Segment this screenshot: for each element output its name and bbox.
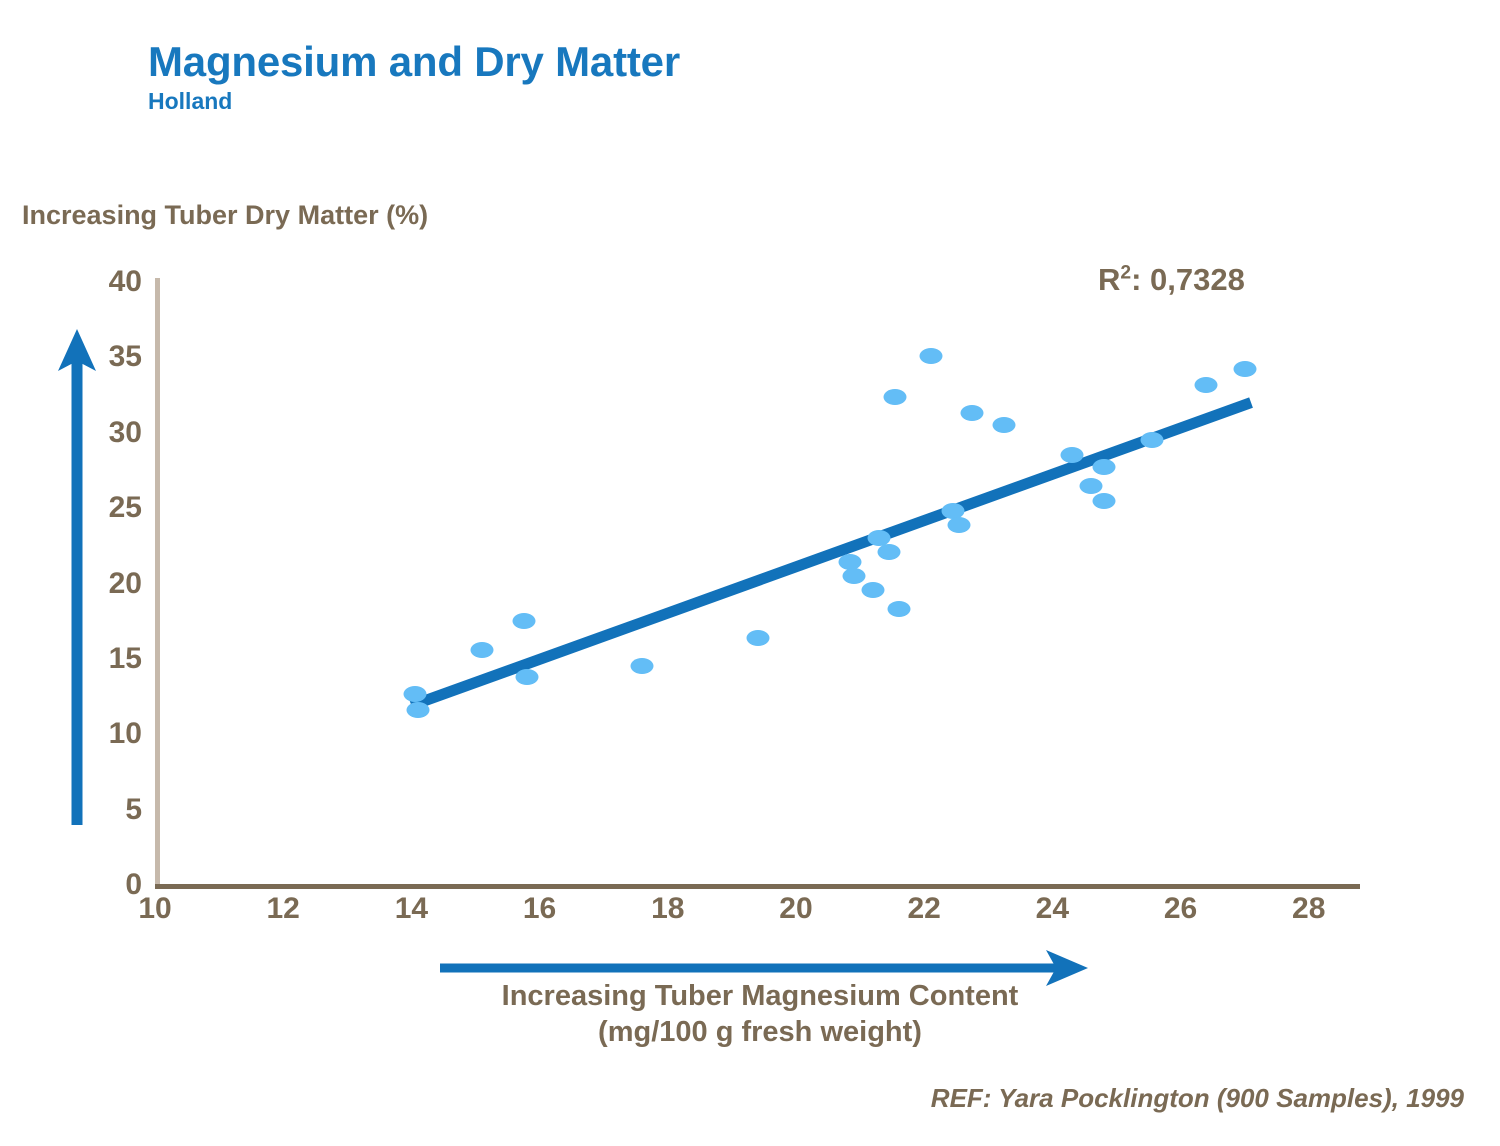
x-axis-tick-14: 14: [395, 892, 428, 926]
page-subtitle: Holland: [148, 88, 680, 115]
x-axis-tick-24: 24: [1036, 892, 1069, 926]
y-axis-tick-0: 0: [82, 868, 142, 902]
data-point: [1079, 478, 1102, 494]
x-axis-caption: Increasing Tuber Magnesium Content (mg/1…: [340, 978, 1180, 1051]
data-point: [861, 582, 884, 598]
x-axis-tick-12: 12: [267, 892, 300, 926]
x-axis-tick-18: 18: [651, 892, 684, 926]
data-point: [1140, 432, 1163, 448]
data-point: [1092, 493, 1115, 509]
data-point: [877, 544, 900, 560]
data-point: [919, 348, 942, 364]
y-axis-caption: Increasing Tuber Dry Matter (%): [22, 200, 428, 231]
x-axis-tick-10: 10: [138, 892, 171, 926]
y-axis-tick-40: 40: [82, 265, 142, 299]
data-point: [746, 630, 769, 646]
data-point: [961, 405, 984, 421]
page-title: Magnesium and Dry Matter: [148, 40, 680, 84]
plot-area: [155, 282, 1360, 885]
data-point: [842, 568, 865, 584]
data-point: [884, 389, 907, 405]
data-point: [406, 702, 429, 718]
x-axis-caption-line2: (mg/100 g fresh weight): [340, 1014, 1180, 1050]
data-point: [1233, 361, 1256, 377]
x-axis-caption-line1: Increasing Tuber Magnesium Content: [340, 978, 1180, 1014]
x-axis-tick-labels: 10121416182022242628: [155, 892, 1360, 936]
data-point: [470, 642, 493, 658]
data-point: [512, 613, 535, 629]
trend-line: [155, 282, 1360, 885]
y-direction-arrow-icon: [56, 325, 98, 825]
x-axis-tick-22: 22: [907, 892, 940, 926]
x-axis-tick-20: 20: [779, 892, 812, 926]
x-axis-tick-26: 26: [1164, 892, 1197, 926]
data-point: [1092, 459, 1115, 475]
x-axis-tick-28: 28: [1292, 892, 1325, 926]
data-point: [515, 669, 538, 685]
data-point: [993, 417, 1016, 433]
trend-line-segment: [411, 403, 1251, 706]
data-point: [631, 658, 654, 674]
data-point: [887, 601, 910, 617]
data-point: [948, 517, 971, 533]
r-squared-exponent: 2: [1120, 263, 1131, 284]
reference-note: REF: Yara Pocklington (900 Samples), 199…: [931, 1083, 1464, 1114]
title-block: Magnesium and Dry Matter Holland: [148, 40, 680, 115]
x-axis-tick-16: 16: [523, 892, 556, 926]
data-point: [1195, 377, 1218, 393]
data-point: [1060, 447, 1083, 463]
data-point: [403, 686, 426, 702]
